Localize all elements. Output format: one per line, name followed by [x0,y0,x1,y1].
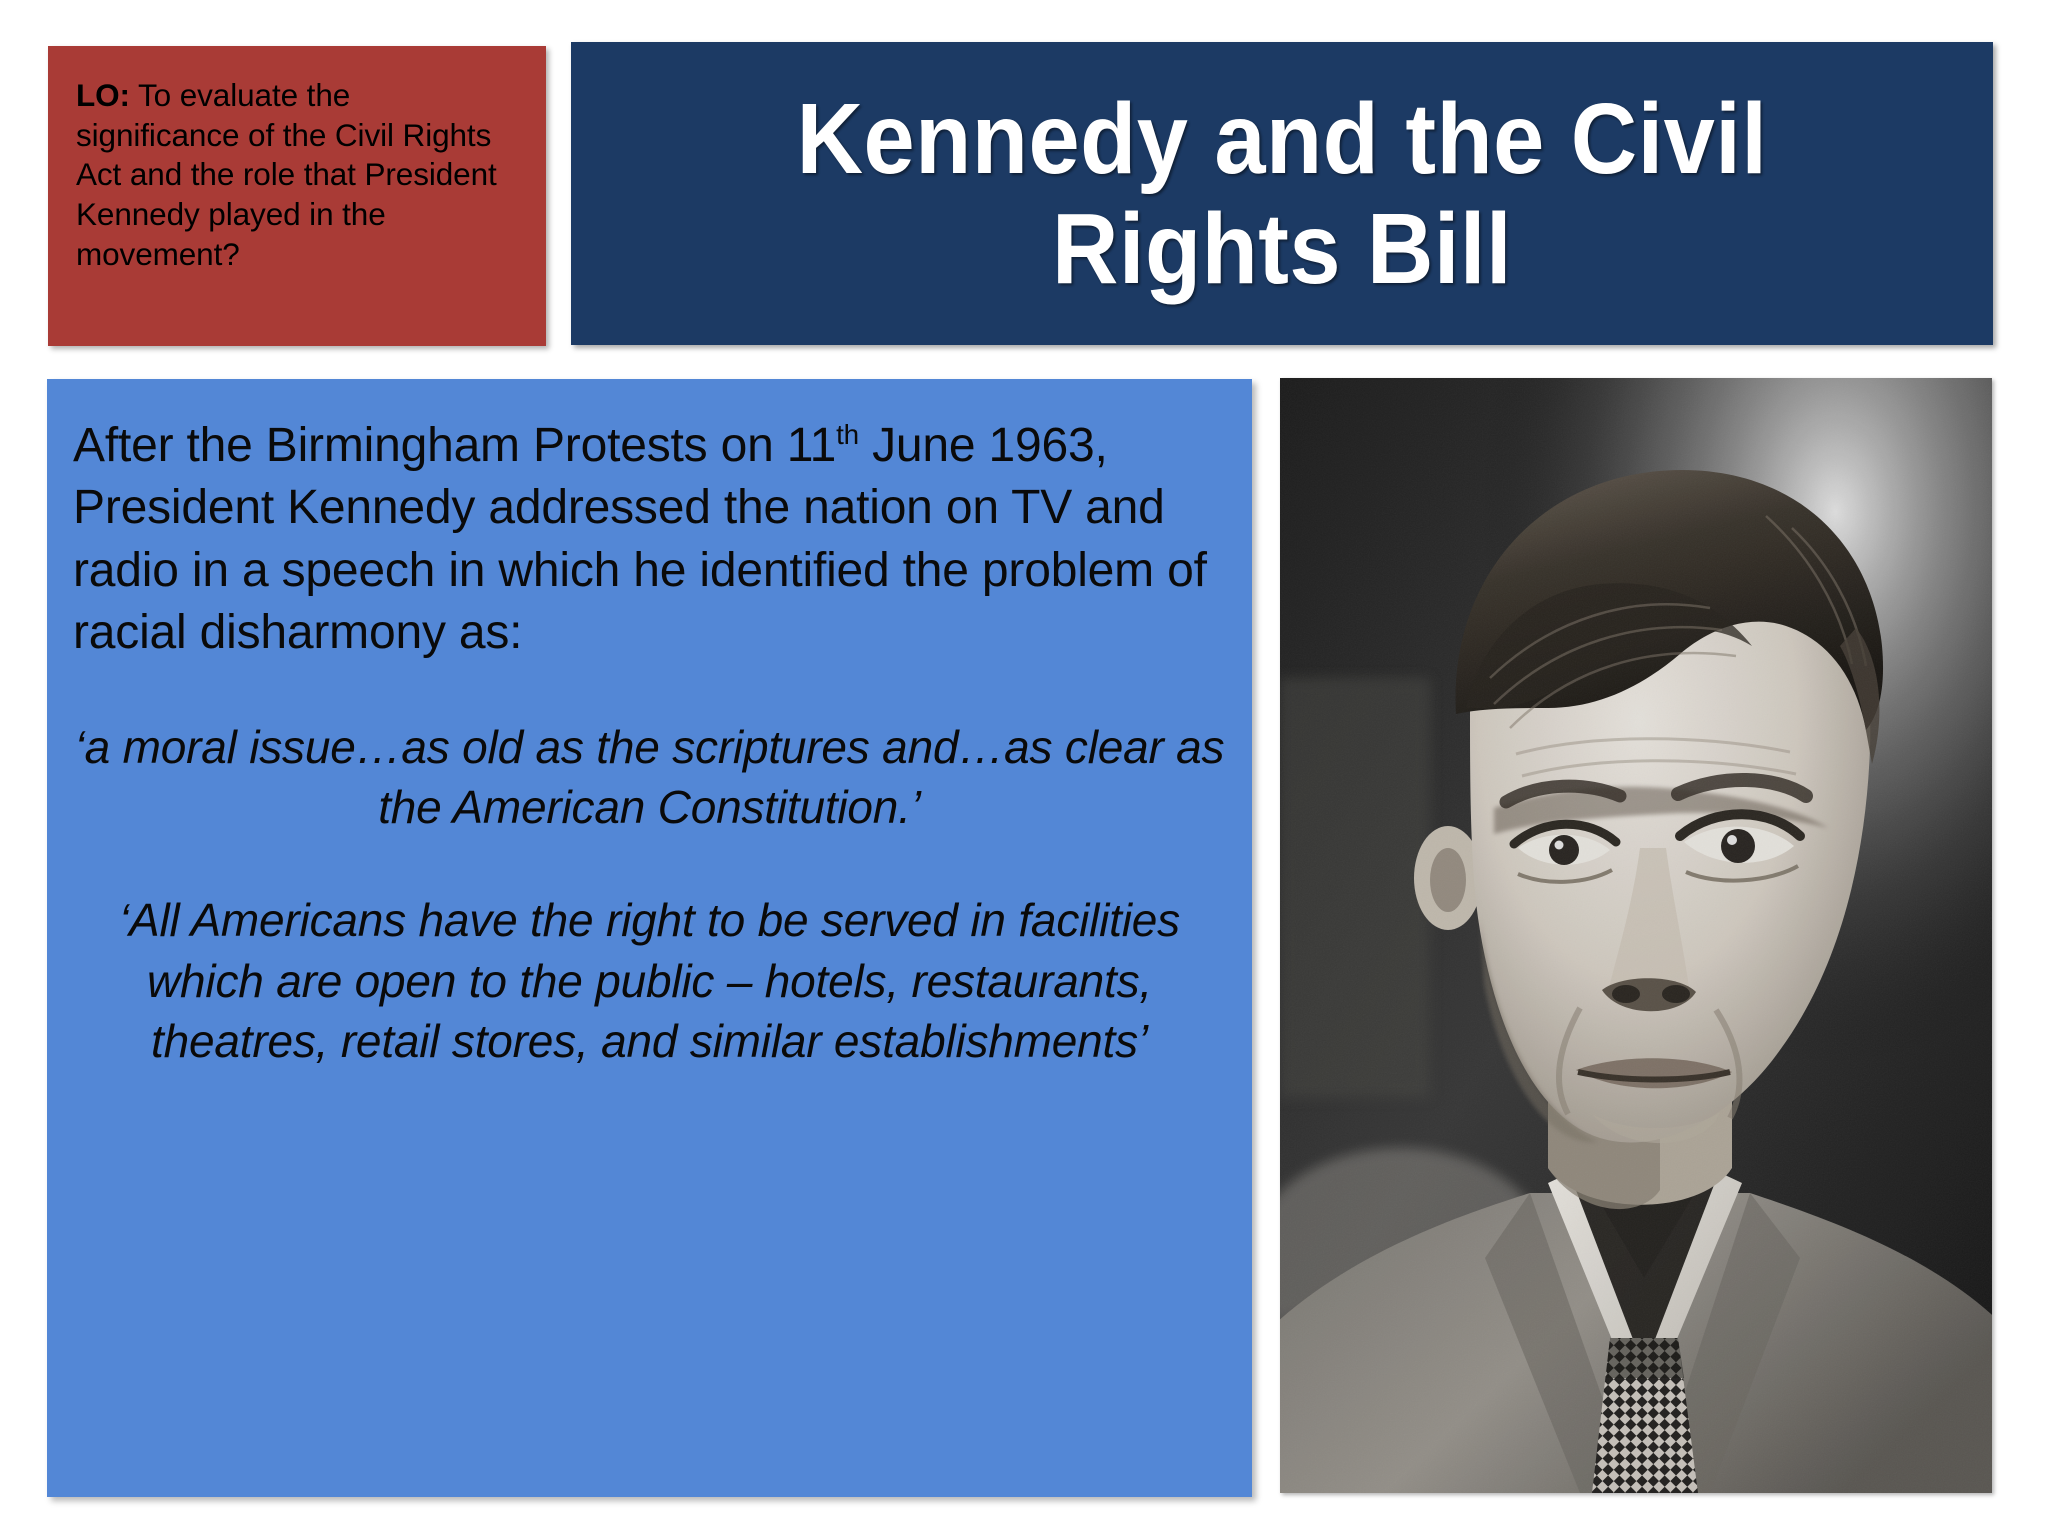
learning-objective-label: LO: [76,77,130,113]
learning-objective-text: LO: To evaluate the significance of the … [76,76,520,274]
body-paragraph-part1: After the Birmingham Protests on 11 [73,419,836,472]
kennedy-portrait-illustration [1280,378,1992,1493]
spacer-1 [73,665,1226,717]
body-paragraph: After the Birmingham Protests on 11th Ju… [73,415,1226,665]
quote-moral-issue: ‘a moral issue…as old as the scriptures … [73,717,1226,838]
content-panel: After the Birmingham Protests on 11th Ju… [47,379,1252,1497]
ordinal-suffix: th [836,419,859,450]
slide-title: Kennedy and the Civil Rights Bill [665,84,1900,304]
learning-objective-body: To evaluate the significance of the Civi… [76,77,497,272]
slide-title-bar: Kennedy and the Civil Rights Bill [571,42,1993,345]
spacer-2 [73,838,1226,890]
learning-objective-box: LO: To evaluate the significance of the … [48,46,546,346]
kennedy-portrait-photo [1280,378,1992,1493]
quote-all-americans: ‘All Americans have the right to be serv… [73,890,1226,1072]
